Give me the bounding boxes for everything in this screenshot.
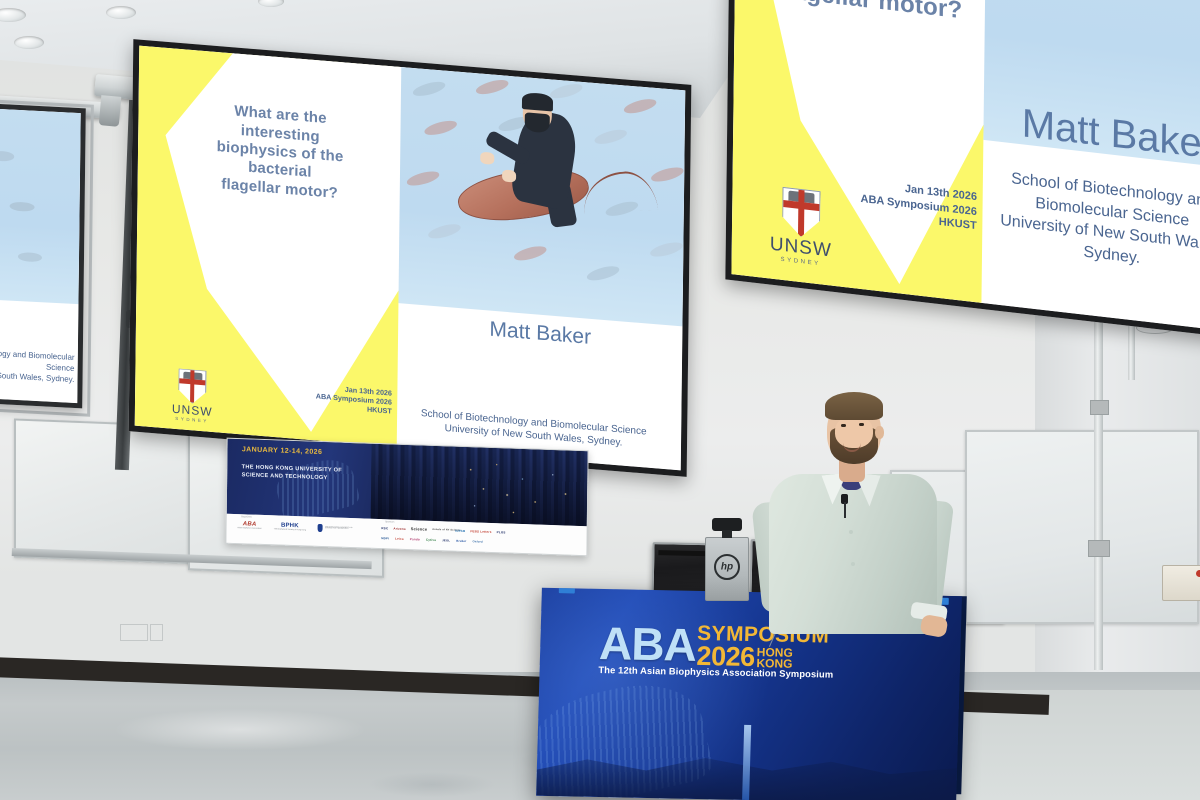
ceiling-light-icon [106, 6, 136, 19]
bacterium-icon [586, 263, 622, 282]
flagellum-icon [580, 170, 658, 214]
sponsor-logo: Bruker [456, 539, 466, 543]
shield-cross-icon [190, 371, 195, 403]
left-slide-affiliation: School of Biotechnology and Biomolecular… [0, 344, 75, 386]
shield-cross-icon [798, 190, 804, 237]
sponsor-logo: Cytiva [426, 538, 436, 542]
bacterium-icon [548, 81, 584, 100]
hp-logo-icon: hp [714, 554, 740, 580]
ceiling-light-icon [14, 36, 44, 49]
sponsor-logo: Leica [395, 537, 404, 541]
sponsor-logo: ABA Asian Biophysics Association [237, 522, 261, 531]
unsw-shield-icon [178, 369, 206, 405]
bacteria-illustration-partial [0, 105, 81, 305]
presentation-title-slide: What are the interesting biophysics of t… [135, 46, 686, 471]
conduit-clip [1088, 540, 1110, 557]
sponsor-logo: FEBS Letters [470, 529, 491, 534]
lecture-hall-photo: School of Biotechnology and Biomolecular… [0, 0, 1200, 800]
sponsor-group-label: Organizers [241, 516, 252, 518]
sponsor-logo: JEOL [442, 539, 450, 543]
projection-screen-main: What are the interesting biophysics of t… [129, 39, 692, 477]
unsw-logo: UNSW SYDNEY [162, 367, 223, 425]
status-indicator-light [1196, 570, 1200, 577]
sponsor-logo: Science [411, 526, 428, 532]
sponsor-group-label-2: Sponsors [385, 521, 394, 523]
slide-left-partial: School of Biotechnology and Biomolecular… [0, 105, 81, 403]
emergency-switch-box[interactable] [1162, 565, 1200, 601]
banner-artwork: JANUARY 12-14, 2026 THE HONG KONG UNIVER… [227, 439, 588, 526]
laptop[interactable]: hp [705, 537, 749, 601]
shield-cross-icon [180, 378, 206, 385]
bacterium-icon [648, 240, 684, 259]
sponsor-logo: MDPI [381, 536, 389, 540]
shirt-button [851, 562, 855, 566]
conduit-clip [1090, 400, 1109, 415]
bacterium-icon [412, 79, 448, 98]
whiteboard-left [14, 418, 198, 564]
sponsor-logo: BPHK The Biophysical Society of Hong Kon… [274, 523, 306, 532]
bacterium-icon [622, 96, 658, 115]
unsw-logo: UNSW SYDNEY [758, 184, 845, 270]
sponsor-logo: Pando [410, 537, 420, 541]
sponsor-logo: Arizona [393, 526, 405, 530]
hp-logo-text: hp [721, 561, 733, 572]
aba-wordmark: ABA [599, 622, 697, 666]
speaker-eye [859, 423, 864, 426]
unsw-shield-icon [782, 187, 821, 239]
skyline-lights [371, 444, 588, 526]
bacterium-icon [0, 151, 15, 162]
sponsor-logo: THE HONG KONG UNIVERSITY OF SCIENCE AND … [318, 524, 359, 533]
bacterium-icon [512, 243, 548, 262]
speaker-ear [875, 426, 884, 439]
hkust-shield-icon [318, 524, 323, 532]
sponsor-logo: PLOS [497, 530, 506, 534]
bacterium-icon [474, 77, 510, 96]
bacterium-icon [427, 222, 463, 241]
sponsor-row-2: RSC Arizona Science Annals of NY Science… [381, 525, 505, 534]
rider-hand [502, 170, 516, 183]
bacterium-icon [649, 165, 685, 184]
rider-hand [480, 151, 494, 164]
bacteria-illustration [399, 67, 686, 326]
banner-organizer: THE HONG KONG UNIVERSITY OF SCIENCE AND … [242, 463, 343, 483]
bacterium-icon [423, 118, 459, 137]
speaker-hair [825, 392, 883, 420]
housing-end-cap [99, 95, 122, 127]
rider-hair [522, 92, 553, 111]
sponsor-logo: RSC [381, 526, 388, 530]
bacterium-icon [18, 252, 42, 263]
shirt-button [849, 530, 853, 534]
slide-title: What are the interesting biophysics of t… [159, 97, 400, 208]
bacterium-icon [405, 168, 441, 187]
slide-affiliation: School of Biotechnology and Biomolecular… [971, 164, 1200, 283]
sponsor-logo: IUPAB [455, 528, 465, 532]
speaker-eye [841, 424, 846, 427]
projection-screen-left: School of Biotechnology and Biomolecular… [0, 100, 86, 409]
wall-switch[interactable] [150, 624, 163, 641]
slide-right-duplicate: What are the interesting biophysics of t… [731, 0, 1200, 334]
sponsor-logo: Oxford [472, 540, 482, 544]
microphone-cable [844, 502, 846, 518]
bacterium-icon [9, 201, 35, 212]
wall-socket[interactable] [120, 624, 148, 641]
podium-clip [559, 588, 575, 594]
speaker [735, 390, 965, 630]
webcam-stand [722, 530, 732, 538]
banner-date: JANUARY 12-14, 2026 [242, 447, 322, 457]
bacterium-icon [593, 127, 629, 146]
sponsor-row-organizers: ABA Asian Biophysics Association BPHK Th… [237, 522, 359, 534]
sponsor-logo: Annals of NY Science [432, 528, 450, 532]
sponsor-row-3: MDPI Leica Pando Cytiva JEOL Bruker Oxfo… [381, 536, 483, 544]
conference-wall-banner: JANUARY 12-14, 2026 THE HONG KONG UNIVER… [225, 438, 588, 557]
